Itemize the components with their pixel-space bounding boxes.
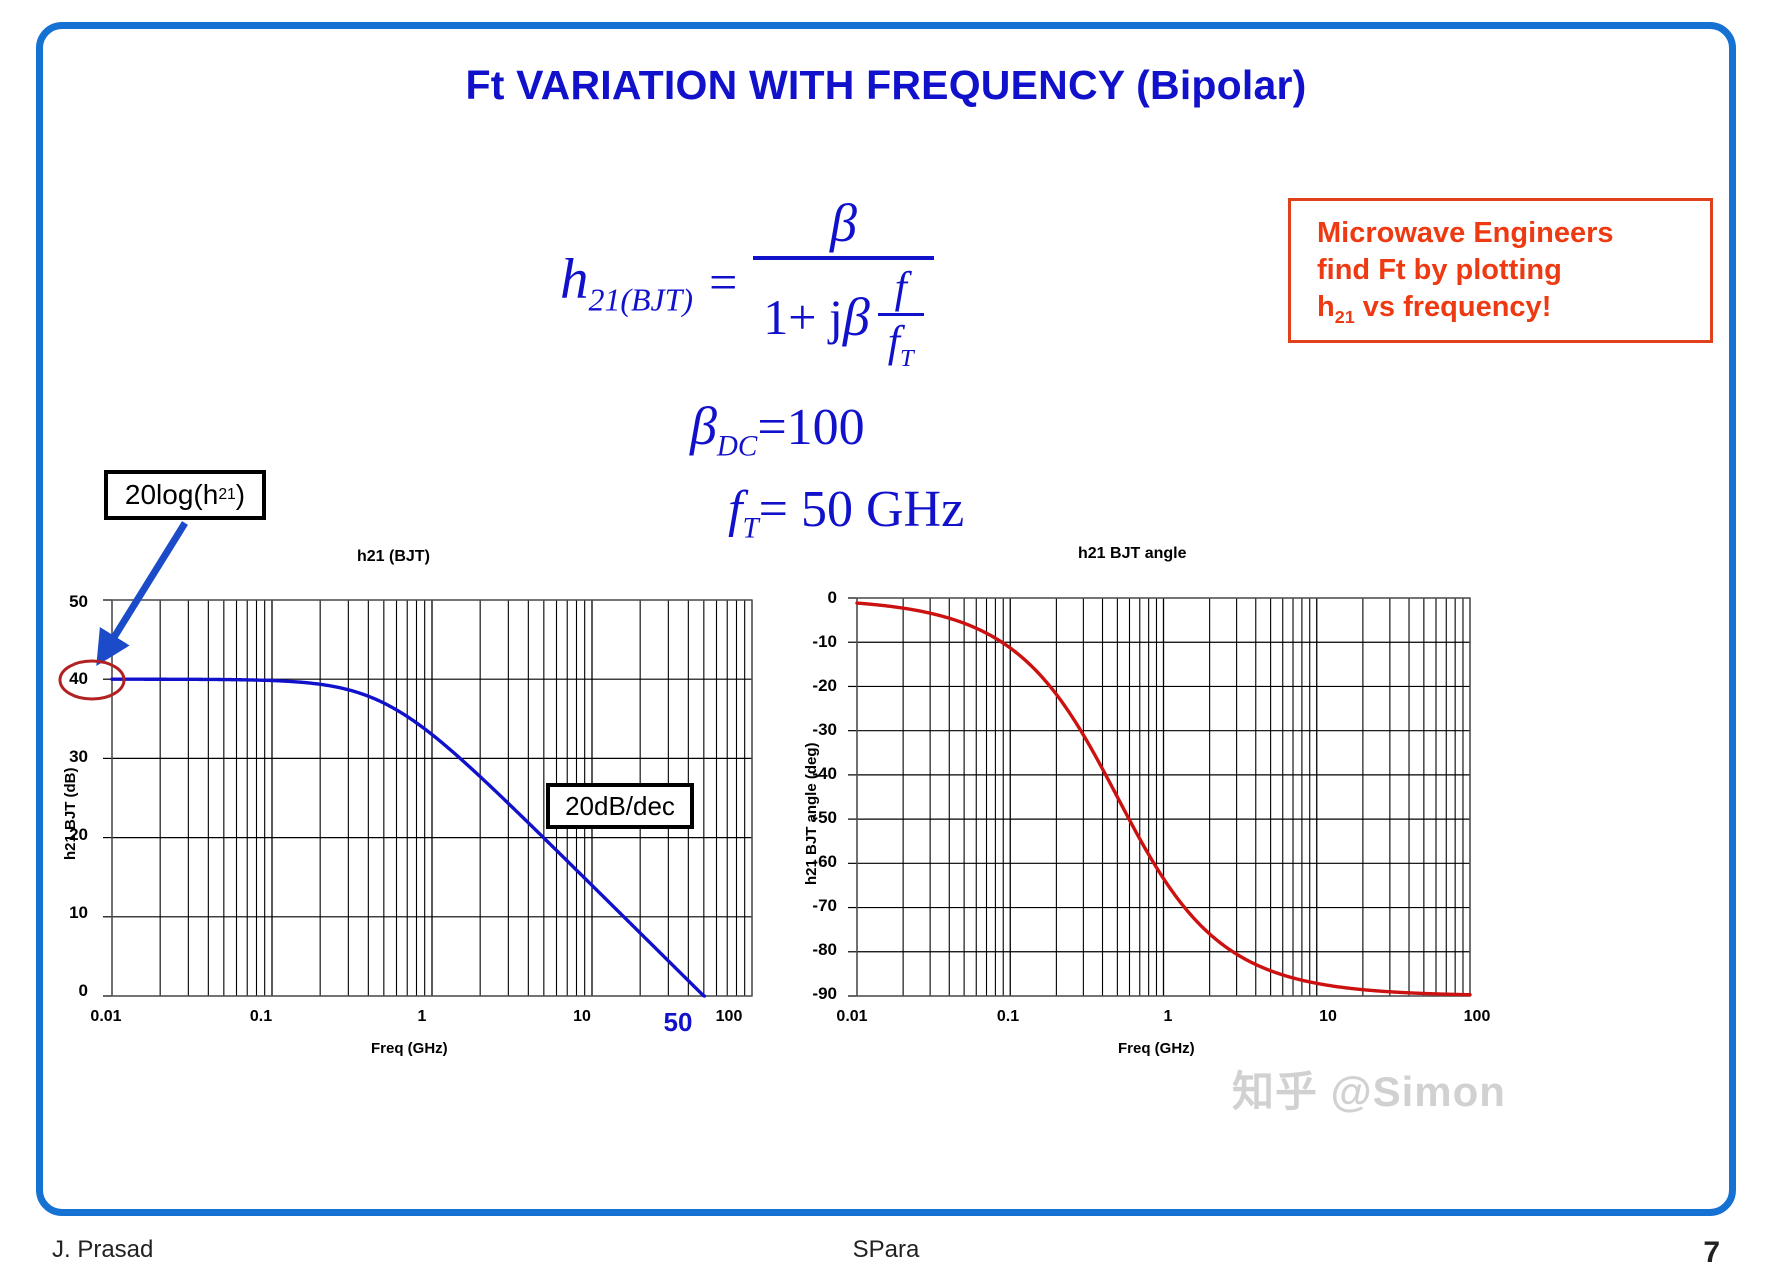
slide-canvas: Ft VARIATION WITH FREQUENCY (Bipolar) h2… (0, 0, 1772, 1287)
annotation-20db-per-dec-box: 20dB/dec (546, 783, 694, 829)
phase-plot-graphics (848, 598, 1470, 996)
plot-graphics (0, 0, 1772, 1287)
